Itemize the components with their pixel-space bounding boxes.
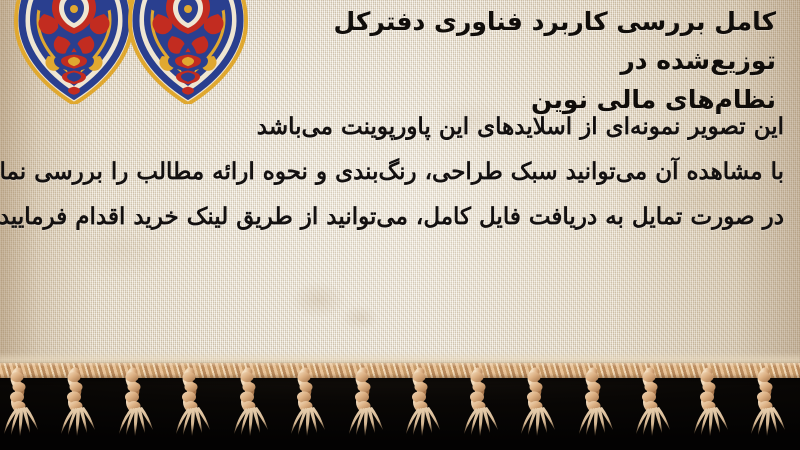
body-line-3: در صورت تمایل به دریافت فایل کامل، می‌تو… xyxy=(14,194,784,239)
slide-title-line-1: کامل بررسی کاربرد فناوری دفترکل توزیع‌شد… xyxy=(334,7,776,75)
presentation-slide: کامل بررسی کاربرد فناوری دفترکل توزیع‌شد… xyxy=(0,0,800,450)
slide-body: این تصویر نمونه‌ای از اسلایدهای این پاور… xyxy=(14,104,784,239)
persian-medallion-ornament-left xyxy=(14,0,134,104)
knotted-tassel-fringe xyxy=(0,366,800,450)
body-line-1: این تصویر نمونه‌ای از اسلایدهای این پاور… xyxy=(14,104,784,149)
body-line-2: با مشاهده آن می‌توانید سبک طراحی، رنگ‌بن… xyxy=(14,149,784,194)
slide-title: کامل بررسی کاربرد فناوری دفترکل توزیع‌شد… xyxy=(216,2,776,119)
